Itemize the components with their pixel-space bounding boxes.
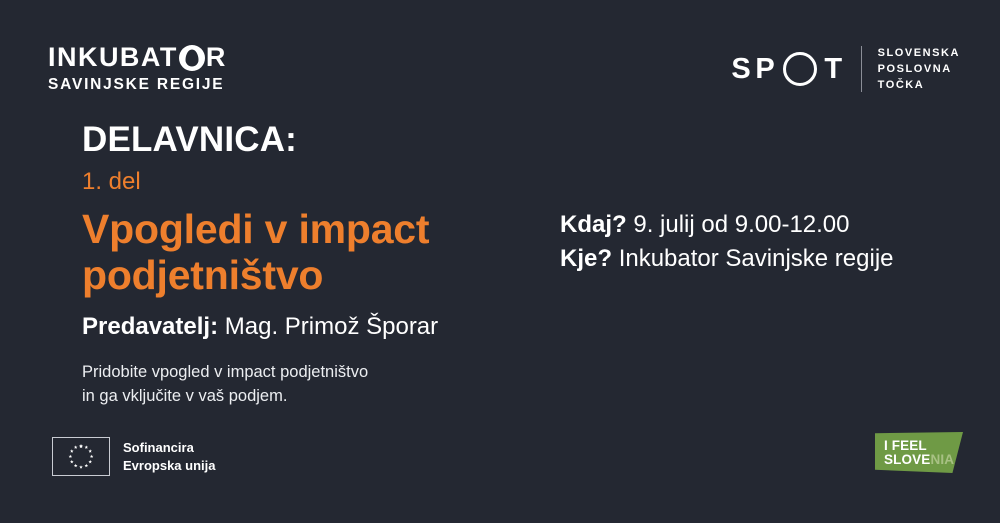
part-label: 1. del [82,170,552,194]
spot-wordmark-part2: T [824,53,846,86]
event-where-value: Inkubator Savinjske regije [619,245,894,272]
event-when-label: Kdaj? [560,211,627,238]
spot-tagline: SLOVENSKA POSLOVNA TOČKA [878,47,960,91]
egg-in-circle-icon [179,45,205,71]
presenter-name: Mag. Primož Šporar [225,313,438,340]
eu-funding-text: Sofinancira Evropska unija [123,439,215,475]
spot-divider [861,46,862,92]
eu-funding-logo: Sofinancira Evropska unija [52,437,215,476]
circle-outline-icon [783,52,817,86]
spot-tagline-line-2: POSLOVNA [878,63,960,75]
spot-logo[interactable]: SP T SLOVENSKA POSLOVNA TOČKA [731,46,960,92]
page-title: Vpogledi v impact podjetništvo [82,207,552,299]
i-feel-slovenia-logo[interactable]: I FEEL SLOVENIA [875,432,963,473]
spot-wordmark-part1: SP [731,53,779,86]
event-where-label: Kje? [560,245,612,272]
inkubator-wordmark: INKUBAT R [48,44,227,71]
inkubator-logo[interactable]: INKUBAT R SAVINJSKE REGIJE [48,44,227,93]
inkubator-wordmark-part1: INKUBAT [48,44,178,71]
description-line-2: in ga vključite v vaš podjem. [82,385,552,408]
eu-funding-line-1: Sofinancira [123,439,215,457]
eu-funding-line-2: Evropska unija [123,457,215,475]
promo-poster: INKUBAT R SAVINJSKE REGIJE SP T SLOVENSK… [0,0,1000,523]
presenter-label: Predavatelj: [82,313,218,340]
description-text: Pridobite vpogled v impact podjetništvo … [82,361,552,408]
spot-tagline-line-1: SLOVENSKA [878,47,960,59]
i-feel-slovenia-line-2: SLOVENIA [884,453,954,467]
event-when-value: 9. julij od 9.00-12.00 [633,211,849,238]
i-feel-slovenia-line-2-green: NIA [930,452,954,467]
event-details: Kdaj? 9. julij od 9.00-12.00 Kje? Inkuba… [560,208,980,276]
spot-tagline-line-3: TOČKA [878,79,960,91]
eu-flag-stars-icon [52,437,110,476]
event-where: Kje? Inkubator Savinjske regije [560,242,980,276]
page-title-line-1: Vpogledi v impact [82,207,552,253]
main-content: DELAVNICA: 1. del Vpogledi v impact podj… [82,122,552,408]
inkubator-subtitle: SAVINJSKE REGIJE [48,77,227,93]
i-feel-slovenia-text: I FEEL SLOVENIA [884,439,954,468]
spot-wordmark: SP T [731,52,846,86]
page-title-line-2: podjetništvo [82,253,552,299]
i-feel-slovenia-line-1: I FEEL [884,439,954,453]
inkubator-wordmark-part2: R [206,44,227,71]
i-feel-slovenia-line-2-white: SLOVE [884,452,930,467]
event-when: Kdaj? 9. julij od 9.00-12.00 [560,208,980,242]
description-line-1: Pridobite vpogled v impact podjetništvo [82,361,552,384]
event-type-label: DELAVNICA: [82,122,552,159]
presenter-line: Predavatelj: Mag. Primož Šporar [82,313,552,342]
